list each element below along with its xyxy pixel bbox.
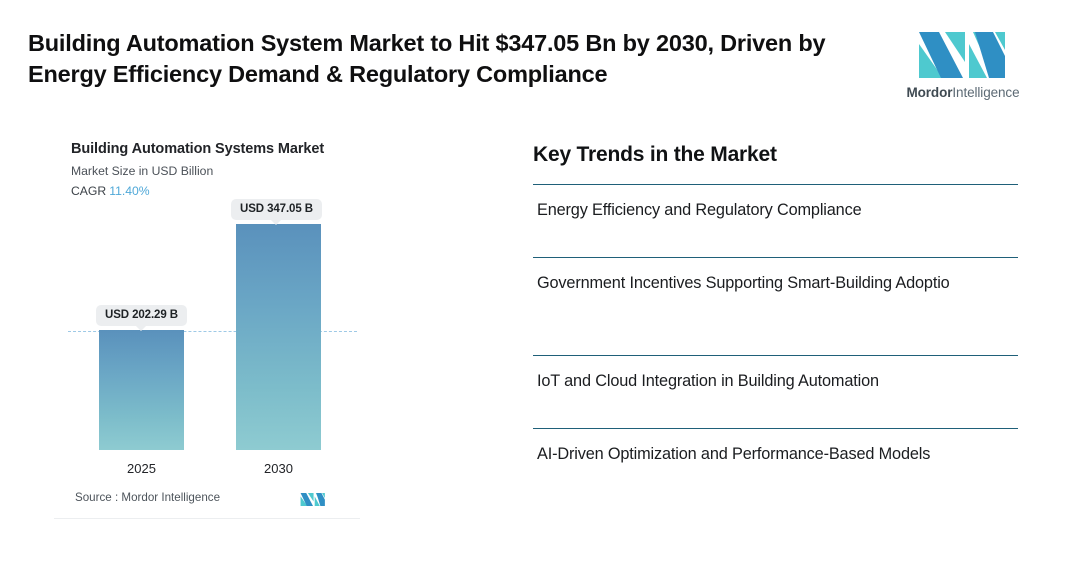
key-trends-title: Key Trends in the Market: [533, 143, 1018, 167]
trend-item-1-text: Government Incentives Supporting Smart-B…: [533, 258, 1018, 296]
page-headline: Building Automation System Market to Hit…: [28, 28, 873, 90]
key-trends-panel: Key Trends in the Market Energy Efficien…: [533, 143, 1018, 506]
logo-wordmark-bold: Mordor: [906, 85, 952, 100]
market-chart-card: Building Automation Systems Market Marke…: [54, 126, 360, 519]
trend-item-2: IoT and Cloud Integration in Building Au…: [533, 355, 1018, 428]
mordor-intelligence-logo: MordorIntelligence: [888, 30, 1038, 108]
trend-item-3-text: AI-Driven Optimization and Performance-B…: [533, 429, 1018, 467]
bar-label-2025: USD 202.29 B: [96, 305, 187, 326]
bar-2030: [236, 224, 321, 450]
logo-wordmark-light: Intelligence: [952, 85, 1019, 100]
logo-wordmark: MordorIntelligence: [906, 85, 1019, 100]
chart-source-name: Mordor Intelligence: [121, 491, 220, 504]
trend-item-2-text: IoT and Cloud Integration in Building Au…: [533, 356, 1018, 394]
chart-plot-area: USD 202.29 B USD 347.05 B 2025 2030: [54, 126, 360, 518]
trend-item-0: Energy Efficiency and Regulatory Complia…: [533, 184, 1018, 257]
trend-item-1: Government Incentives Supporting Smart-B…: [533, 257, 1018, 355]
mordor-m-logo-icon: [917, 30, 1009, 80]
bar-2025: [99, 330, 184, 450]
x-axis-label-2025: 2025: [99, 461, 184, 476]
page-root: Building Automation System Market to Hit…: [0, 0, 1066, 567]
bar-label-2030: USD 347.05 B: [231, 199, 322, 220]
source-mordor-logo-icon: [300, 492, 326, 507]
chart-source: Source : Mordor Intelligence: [75, 491, 220, 504]
chart-source-label: Source :: [75, 491, 118, 504]
x-axis-label-2030: 2030: [236, 461, 321, 476]
trend-item-3: AI-Driven Optimization and Performance-B…: [533, 428, 1018, 506]
trend-item-0-text: Energy Efficiency and Regulatory Complia…: [533, 185, 1018, 223]
